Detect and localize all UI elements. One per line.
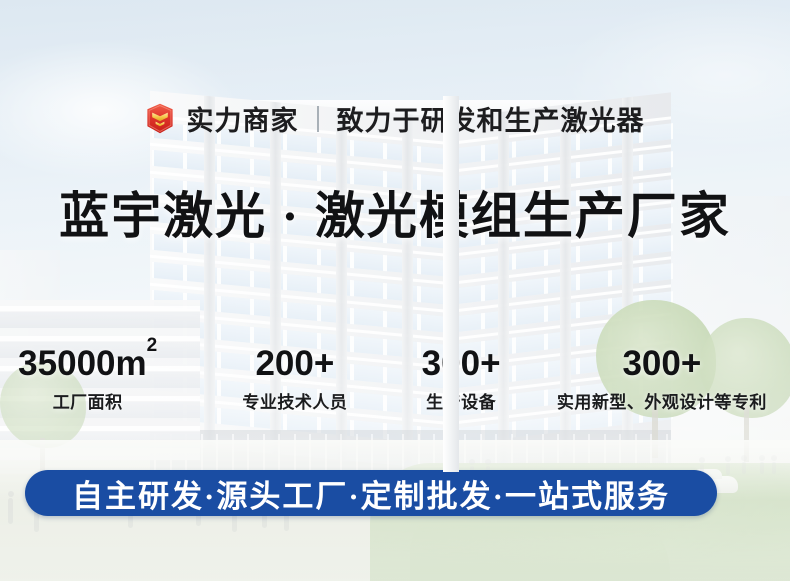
stat-value: 300+ (400, 346, 521, 382)
eyebrow-divider (317, 106, 319, 132)
eyebrow-strong-label: 实力商家 (187, 99, 299, 138)
stat-item: 35000m2 工厂面积 (8, 346, 167, 413)
tower-corner-column (443, 96, 459, 472)
stat-value: 300+ (534, 346, 790, 382)
banner-content: 实力商家 致力于研发和生产激光器 蓝宇激光 · 激光模组生产厂家 35000m2… (0, 0, 790, 581)
stat-item: 200+ 专业技术人员 (211, 346, 378, 413)
stat-caption: 专业技术人员 (211, 388, 378, 413)
page-title: 蓝宇激光 · 激光模组生产厂家 (0, 176, 790, 248)
stat-caption: 生产设备 (400, 388, 521, 413)
eyebrow-row: 实力商家 致力于研发和生产激光器 (0, 99, 790, 138)
stat-caption: 工厂面积 (8, 388, 167, 413)
stat-value: 200+ (211, 346, 378, 382)
eyebrow-sub-label: 致力于研发和生产激光器 (337, 99, 645, 138)
value-proposition-text: 自主研发·源头工厂·定制批发·一站式服务 (72, 471, 670, 516)
value-proposition-pill: 自主研发·源头工厂·定制批发·一站式服务 (25, 470, 717, 516)
shield-badge-icon (146, 103, 174, 134)
stat-value: 35000m2 (8, 346, 167, 382)
stat-item: 300+ 实用新型、外观设计等专利 (534, 346, 790, 413)
stats-row: 35000m2 工厂面积 200+ 专业技术人员 300+ 生产设备 300+ … (0, 346, 790, 413)
factory-promo-banner: 实力商家 致力于研发和生产激光器 蓝宇激光 · 激光模组生产厂家 35000m2… (0, 0, 790, 581)
stat-caption: 实用新型、外观设计等专利 (534, 388, 790, 413)
stat-item: 300+ 生产设备 (400, 346, 521, 413)
stat-superscript: 2 (147, 335, 158, 356)
